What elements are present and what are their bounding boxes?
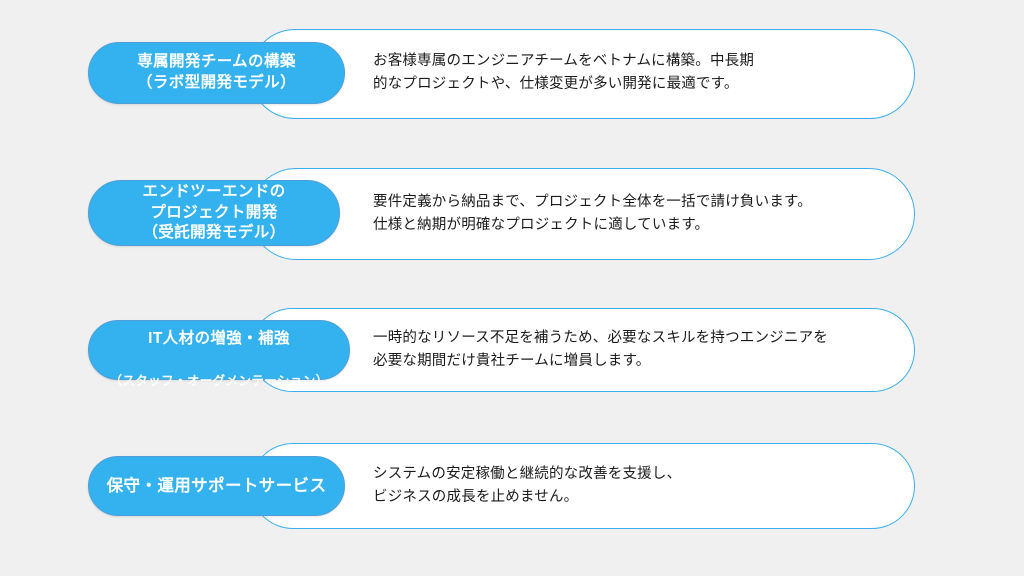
service-description: お客様専属のエンジニアチームをベトナムに構築。中長期 的なプロジェクトや、仕様変…: [373, 50, 754, 97]
service-name-main: IT人材の増強・補強: [148, 330, 290, 347]
service-name-sub: （スタッフ・オーグメンテーション）: [109, 374, 328, 388]
service-description-capsule: 要件定義から納品まで、プロジェクト全体を一括で請け負います。 仕様と納期が明確な…: [250, 168, 915, 260]
service-description-capsule: お客様専属のエンジニアチームをベトナムに構築。中長期 的なプロジェクトや、仕様変…: [250, 29, 915, 119]
service-description-capsule: システムの安定稼働と継続的な改善を支援し、 ビジネスの成長を止めません。: [250, 443, 915, 529]
service-name-pill[interactable]: 専属開発チームの構築 （ラボ型開発モデル）: [88, 42, 345, 104]
service-description: 要件定義から納品まで、プロジェクト全体を一括で請け負います。 仕様と納期が明確な…: [373, 191, 812, 238]
service-name-label: 保守・運用サポートサービス: [107, 475, 327, 497]
service-name-label: エンドツーエンドの プロジェクト開発 （受託開発モデル）: [142, 182, 285, 244]
service-name-pill[interactable]: 保守・運用サポートサービス: [88, 456, 345, 516]
service-name-label: IT人材の増強・補強 （スタッフ・オーグメンテーション）: [109, 308, 328, 391]
service-name-pill[interactable]: IT人材の増強・補強 （スタッフ・オーグメンテーション）: [88, 320, 350, 380]
service-list: お客様専属のエンジニアチームをベトナムに構築。中長期 的なプロジェクトや、仕様変…: [0, 0, 1024, 576]
service-description: システムの安定稼働と継続的な改善を支援し、 ビジネスの成長を止めません。: [373, 463, 681, 510]
service-name-label: 専属開発チームの構築 （ラボ型開発モデル）: [137, 52, 296, 94]
service-description: 一時的なリソース不足を補うため、必要なスキルを持つエンジニアを 必要な期間だけ貴…: [373, 327, 828, 374]
service-name-pill[interactable]: エンドツーエンドの プロジェクト開発 （受託開発モデル）: [88, 180, 340, 246]
